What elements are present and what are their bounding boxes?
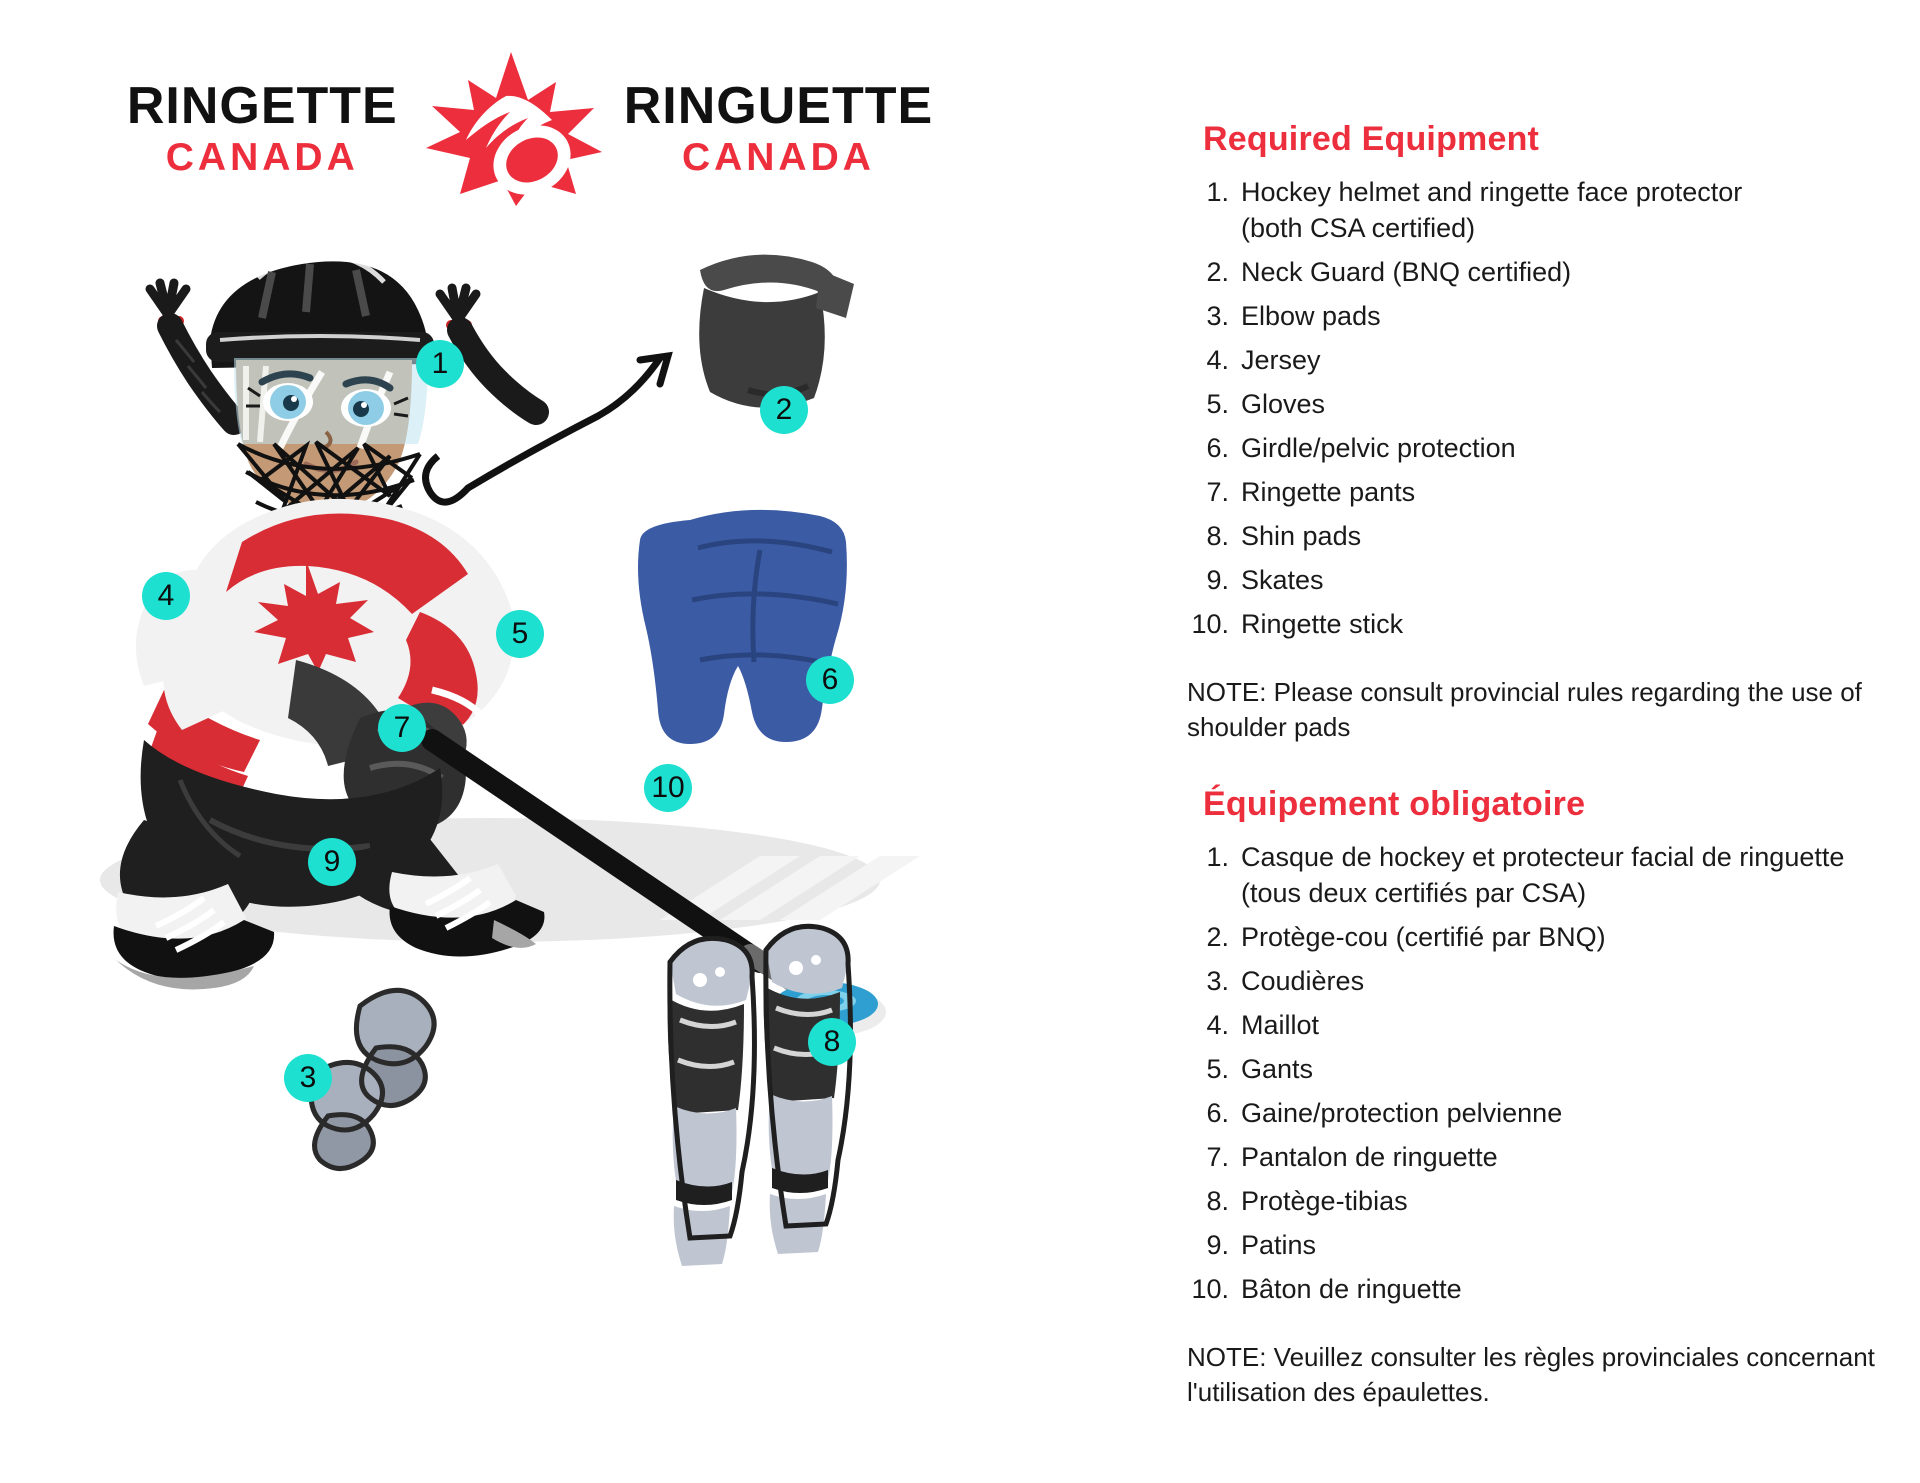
item-number: 1.	[1175, 175, 1241, 209]
item-number-blank	[1175, 876, 1241, 910]
item-text: Protège-cou (certifié par BNQ)	[1241, 920, 1895, 954]
list-item-sub: (tous deux certifiés par CSA)	[1175, 876, 1895, 910]
item-number: 9.	[1175, 563, 1241, 597]
callout-badge-6[interactable]: 6	[806, 656, 854, 704]
list-item: 5. Gants	[1175, 1052, 1895, 1086]
item-number: 2.	[1175, 920, 1241, 954]
infographic-page: RINGETTE CANADA RINGUETTE CANADA	[0, 0, 1920, 1483]
maple-leaf-ring-icon	[416, 48, 606, 208]
equipment-illustration	[60, 220, 1070, 1400]
item-number: 5.	[1175, 387, 1241, 421]
logo-english-line1: RINGETTE	[127, 80, 398, 132]
item-number: 4.	[1175, 343, 1241, 377]
item-number-blank	[1175, 211, 1241, 245]
list-item: 6. Gaine/protection pelvienne	[1175, 1096, 1895, 1130]
item-subtext: (tous deux certifiés par CSA)	[1241, 876, 1895, 910]
ringette-canada-logo: RINGETTE CANADA RINGUETTE CANADA	[0, 48, 1060, 208]
item-text: Elbow pads	[1241, 299, 1895, 333]
item-number: 6.	[1175, 431, 1241, 465]
list-item: 10. Bâton de ringuette	[1175, 1272, 1895, 1306]
callout-badge-9[interactable]: 9	[308, 838, 356, 886]
item-text: Bâton de ringuette	[1241, 1272, 1895, 1306]
item-number: 6.	[1175, 1096, 1241, 1130]
item-text: Neck Guard (BNQ certified)	[1241, 255, 1895, 289]
item-number: 8.	[1175, 519, 1241, 553]
list-item: 4. Maillot	[1175, 1008, 1895, 1042]
list-item: 7. Pantalon de ringuette	[1175, 1140, 1895, 1174]
list-item: 5. Gloves	[1175, 387, 1895, 421]
shin-pads-item	[668, 926, 851, 1266]
section-spacer	[1175, 745, 1895, 785]
list-item: 8. Shin pads	[1175, 519, 1895, 553]
list-item: 1. Casque de hockey et protecteur facial…	[1175, 840, 1895, 874]
list-item-sub: (both CSA certified)	[1175, 211, 1895, 245]
list-item: 3. Coudières	[1175, 964, 1895, 998]
item-number: 7.	[1175, 1140, 1241, 1174]
item-text: Girdle/pelvic protection	[1241, 431, 1895, 465]
french-equipment-list: 1. Casque de hockey et protecteur facial…	[1175, 840, 1895, 1306]
neck-guard-item	[699, 255, 854, 408]
logo-french-line2: CANADA	[682, 138, 875, 177]
callout-badge-3[interactable]: 3	[284, 1054, 332, 1102]
list-item: 6. Girdle/pelvic protection	[1175, 431, 1895, 465]
item-number: 4.	[1175, 1008, 1241, 1042]
list-item: 7. Ringette pants	[1175, 475, 1895, 509]
list-item: 2. Protège-cou (certifié par BNQ)	[1175, 920, 1895, 954]
item-number: 2.	[1175, 255, 1241, 289]
pointer-arrow	[426, 356, 669, 502]
item-number: 9.	[1175, 1228, 1241, 1262]
logo-english-line2: CANADA	[166, 138, 359, 177]
item-number: 3.	[1175, 299, 1241, 333]
logo-french-line1: RINGUETTE	[624, 80, 933, 132]
callout-badge-2[interactable]: 2	[760, 386, 808, 434]
list-item: 3. Elbow pads	[1175, 299, 1895, 333]
list-item: 8. Protège-tibias	[1175, 1184, 1895, 1218]
item-subtext: (both CSA certified)	[1241, 211, 1895, 245]
list-item: 4. Jersey	[1175, 343, 1895, 377]
hockey-helmet	[206, 254, 434, 368]
item-number: 3.	[1175, 964, 1241, 998]
item-text: Gaine/protection pelvienne	[1241, 1096, 1895, 1130]
item-number: 10.	[1175, 607, 1241, 641]
french-note: NOTE: Veuillez consulter les règles prov…	[1187, 1340, 1877, 1410]
callout-badge-5[interactable]: 5	[496, 610, 544, 658]
item-number: 5.	[1175, 1052, 1241, 1086]
item-text: Ringette stick	[1241, 607, 1895, 641]
item-text: Patins	[1241, 1228, 1895, 1262]
list-item: 9. Skates	[1175, 563, 1895, 597]
french-heading: Équipement obligatoire	[1203, 785, 1895, 824]
logo-wordmark-english: RINGETTE CANADA	[127, 80, 398, 177]
english-note: NOTE: Please consult provincial rules re…	[1187, 675, 1877, 745]
callout-badge-7[interactable]: 7	[378, 704, 426, 752]
item-number: 8.	[1175, 1184, 1241, 1218]
item-number: 10.	[1175, 1272, 1241, 1306]
item-text: Pantalon de ringuette	[1241, 1140, 1895, 1174]
callout-badge-8[interactable]: 8	[808, 1018, 856, 1066]
item-number: 1.	[1175, 840, 1241, 874]
item-text: Casque de hockey et protecteur facial de…	[1241, 840, 1895, 874]
logo-wordmark-french: RINGUETTE CANADA	[624, 80, 933, 177]
item-text: Shin pads	[1241, 519, 1895, 553]
item-text: Maillot	[1241, 1008, 1895, 1042]
callout-badge-4[interactable]: 4	[142, 572, 190, 620]
item-text: Protège-tibias	[1241, 1184, 1895, 1218]
girdle-item	[638, 510, 847, 744]
equipment-text-column: Required Equipment 1. Hockey helmet and …	[1175, 120, 1895, 1410]
item-text: Coudières	[1241, 964, 1895, 998]
callout-badge-10[interactable]: 10	[644, 764, 692, 812]
list-item: 10. Ringette stick	[1175, 607, 1895, 641]
item-text: Jersey	[1241, 343, 1895, 377]
item-text: Gants	[1241, 1052, 1895, 1086]
item-text: Skates	[1241, 563, 1895, 597]
list-item: 2. Neck Guard (BNQ certified)	[1175, 255, 1895, 289]
callout-badge-1[interactable]: 1	[416, 340, 464, 388]
item-text: Hockey helmet and ringette face protecto…	[1241, 175, 1895, 209]
english-equipment-list: 1. Hockey helmet and ringette face prote…	[1175, 175, 1895, 641]
item-text: Ringette pants	[1241, 475, 1895, 509]
item-number: 7.	[1175, 475, 1241, 509]
list-item: 9. Patins	[1175, 1228, 1895, 1262]
list-item: 1. Hockey helmet and ringette face prote…	[1175, 175, 1895, 209]
item-text: Gloves	[1241, 387, 1895, 421]
english-heading: Required Equipment	[1203, 120, 1895, 159]
